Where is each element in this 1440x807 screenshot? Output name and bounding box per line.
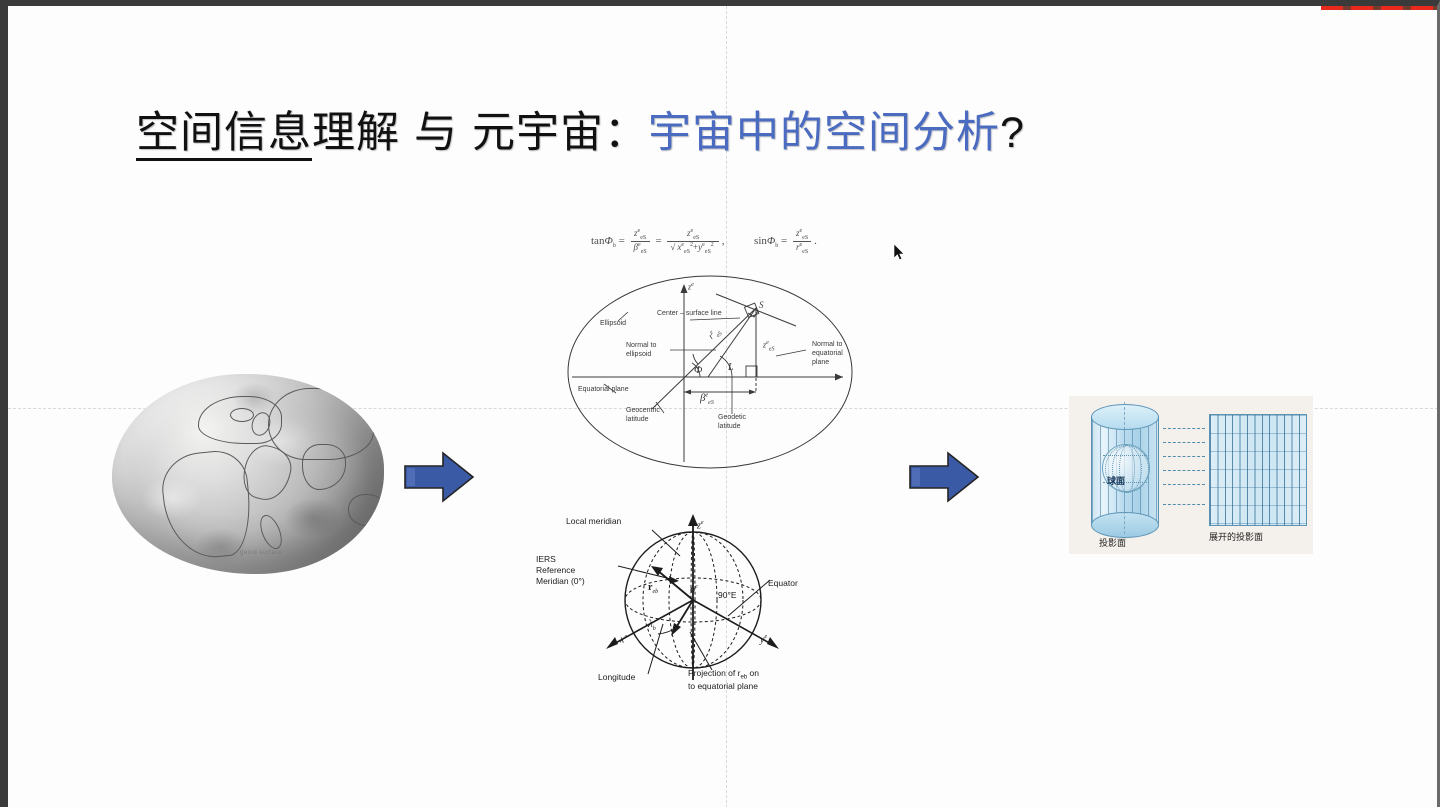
symbol-z-es: zeeS: [763, 340, 774, 352]
symbol-r-eb-vector: reb: [648, 582, 658, 595]
cylindrical-projection-image: 球面 投影面 展开的投影面: [1069, 396, 1313, 554]
eq1-rad-y-sub: eS: [705, 249, 711, 255]
eq1-rad-y-sup: e: [702, 242, 705, 248]
eq1-rad-x-sup: e: [681, 242, 684, 248]
unfolded-plane-horizontal-lines: [1210, 415, 1306, 525]
eq1-f1-num-sup: e: [638, 228, 641, 234]
label-local-meridian: Local meridian: [566, 516, 621, 527]
coastline-australia: [348, 494, 384, 526]
mouse-cursor: [894, 244, 906, 262]
symbol-L-angle: L: [728, 362, 734, 373]
eq1-f2-den: √xeeS2+yeeS2: [667, 241, 718, 255]
slide-title: 空间信息理解与元宇宙：宇宙中的空间分析?: [136, 103, 1025, 163]
eq1-fraction-1: zeeS βeeS: [631, 228, 650, 255]
geoid-body: geoid surface: [112, 374, 384, 574]
projection-dashed-rays: [1163, 428, 1205, 510]
eq2-phi: Φ: [767, 235, 775, 247]
eq2-num-sub: eS: [802, 235, 808, 241]
eq2-den-sub: eS: [802, 249, 808, 255]
label-center-surface-line: Center – surface line: [657, 309, 722, 318]
label-iers-line1: IERS: [536, 554, 556, 565]
title-highlight-blue: 宇宙中的空间分析: [648, 109, 1000, 157]
coastline-black-sea: [230, 408, 254, 422]
eq2-den: reeS: [793, 241, 811, 255]
title-underlined-part: 空间信息: [136, 109, 312, 161]
geoid-earth-image: geoid surface: [104, 368, 394, 583]
label-iers-line2: Reference: [536, 565, 575, 576]
eq2-num-sup: e: [800, 228, 803, 234]
symbol-beta-es: βeeS: [700, 392, 714, 406]
label-unfolded-projection: 展开的投影面: [1209, 530, 1263, 543]
symbol-phi-angle: Φ: [694, 364, 702, 376]
eq2-fraction: zeeS reeS: [793, 228, 811, 255]
eq1-f1-den-sup: e: [638, 242, 641, 248]
equation-tan-phi: tanΦb = zeeS βeeS = zeeS √xeeS2+yeeS2 ,: [591, 228, 725, 255]
eq1-rad-y-pow: 2: [711, 242, 714, 248]
symbol-y-axis-sphere: ye: [760, 634, 767, 645]
eq1-radicand: xeeS2+yeeS2: [675, 241, 715, 252]
eq2-period: .: [814, 235, 817, 247]
eq1-fraction-2: zeeS √xeeS2+yeeS2: [667, 228, 718, 255]
geoid-caption: geoid surface: [240, 550, 283, 556]
label-equator: Equator: [768, 578, 798, 589]
label-equatorial-plane: Equatorial plane: [578, 385, 629, 394]
red-toolbar-fragment: [1321, 6, 1439, 10]
label-geodetic-latitude: Geodetic latitude: [718, 413, 746, 431]
label-geocentric-latitude: Geocentric latitude: [626, 406, 660, 424]
eq1-f2-num-sup: e: [691, 228, 694, 234]
title-part-3: 元宇宙：: [472, 109, 648, 157]
title-question-mark: ?: [1000, 109, 1025, 157]
latitude-equations: tanΦb = zeeS βeeS = zeeS √xeeS2+yeeS2 , …: [591, 228, 826, 255]
eq1-phi: Φ: [604, 235, 612, 247]
symbol-z-axis-sphere: ze: [697, 520, 704, 531]
label-ellipsoid: Ellipsoid: [600, 319, 626, 328]
eq1-comma: ,: [722, 235, 725, 247]
symbol-lambda-b: λb: [648, 618, 656, 632]
symbol-origin-oe: oe: [690, 584, 698, 595]
eq1-f1-den: βeeS: [631, 241, 650, 255]
cylinder-top-ellipse: [1091, 404, 1159, 430]
eq1-rad-x-sub: eS: [684, 249, 690, 255]
eq2-num: zeeS: [793, 228, 811, 241]
eq1-equals: =: [619, 235, 625, 247]
transform-arrow-2: [908, 450, 980, 504]
eq1-phi-sub: b: [613, 243, 616, 249]
symbol-point-s: S: [759, 300, 764, 310]
equation-sin-phi: sinΦb = zeeS reeS .: [754, 228, 817, 255]
label-normal-to-equatorial-plane: Normal to equatorial plane: [812, 340, 843, 367]
ellipsoid-diagram-svg: [560, 272, 860, 472]
eq2-sin: sin: [754, 235, 767, 247]
eq1-f1-num-sub: eS: [640, 235, 646, 241]
symbol-x-axis-sphere: xe: [620, 634, 627, 645]
label-normal-to-ellipsoid: Normal to ellipsoid: [626, 341, 656, 359]
transform-arrow-1: [403, 450, 475, 504]
eq2-equals: =: [781, 235, 787, 247]
eq1-f2-num-sub: eS: [693, 235, 699, 241]
symbol-z-axis: ze: [688, 282, 694, 292]
label-90-east: 90°E: [718, 590, 737, 601]
eq2-phi-sub: b: [775, 243, 778, 249]
sphere-diagram-svg: [530, 508, 830, 703]
cylinder-bottom-ellipse: [1091, 512, 1159, 538]
sphere-longitude-diagram: Local meridian IERS Reference Meridian (…: [530, 508, 830, 703]
label-iers-line3: Meridian (0°): [536, 576, 585, 587]
eq1-tan: tan: [591, 235, 604, 247]
unfolded-plane: [1209, 414, 1307, 526]
eq1-f1-num: zeeS: [631, 228, 650, 241]
eq2-den-sup: e: [800, 242, 803, 248]
presentation-slide: 空间信息理解与元宇宙：宇宙中的空间分析? geoid surface: [0, 0, 1440, 807]
label-projection-line2: to equatorial plane: [688, 681, 758, 692]
eq1-f2-num: zeeS: [667, 228, 718, 241]
eq1-equals-2: =: [655, 235, 661, 247]
label-longitude: Longitude: [598, 672, 635, 683]
ellipsoid-latitude-diagram: Ellipsoid Center – surface line Normal t…: [560, 272, 860, 472]
eq1-f1-den-sub: eS: [641, 249, 647, 255]
title-separator: 与: [414, 109, 458, 157]
label-projection-surface: 投影面: [1099, 536, 1126, 549]
title-part-2: 理解: [312, 109, 400, 157]
label-sphere-surface: 球面: [1107, 474, 1125, 487]
